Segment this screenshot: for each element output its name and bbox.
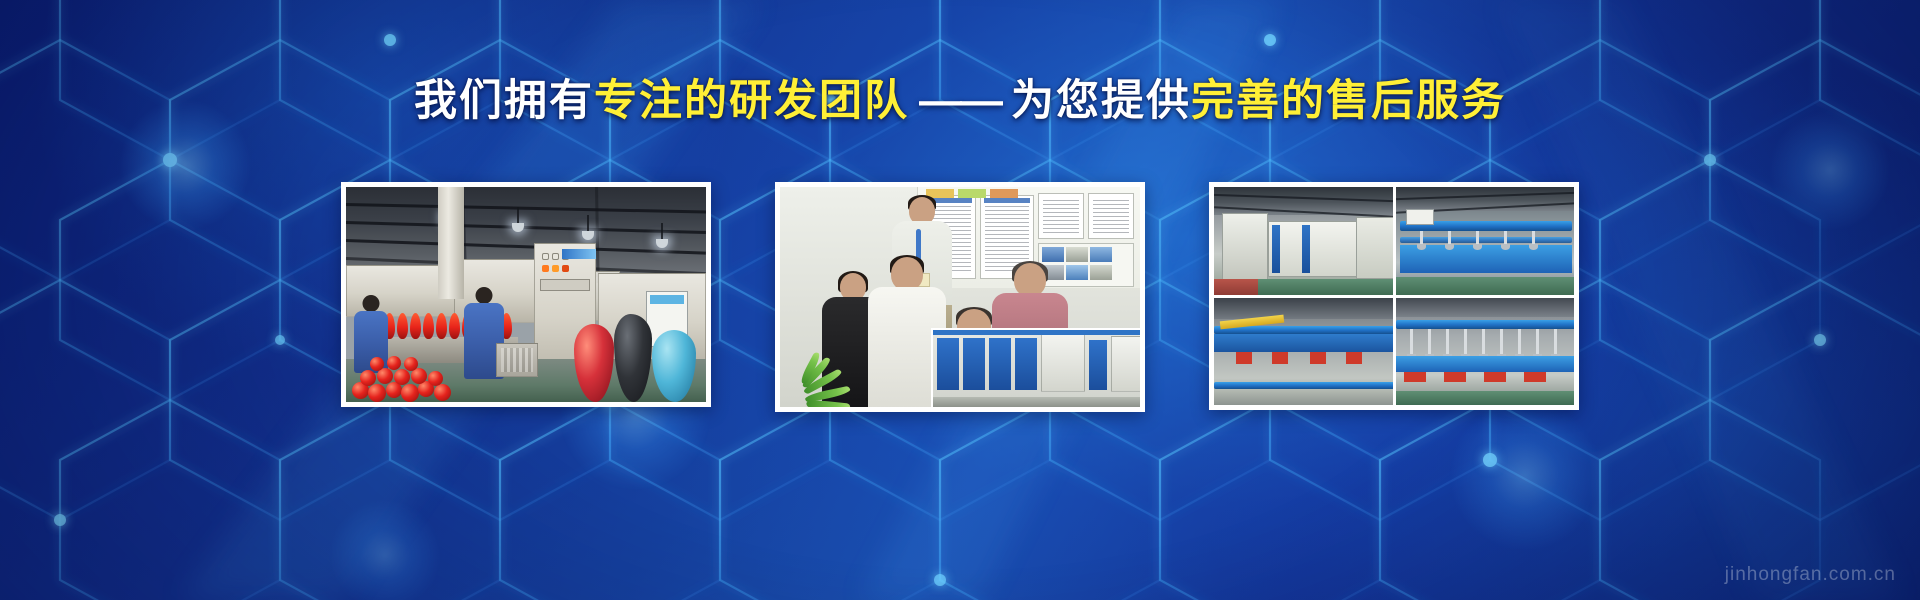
potted-plant [780,335,858,407]
collage-cell-spray-line [1396,187,1575,295]
photo-frame-equipment-collage[interactable] [1209,182,1579,410]
photo-team-meeting [780,187,1140,407]
collage-cell-conveyor [1214,298,1393,406]
headline-segment-2: 专注的研发团队 [594,77,909,125]
photo-equipment-collage [1214,187,1574,405]
photo-gallery [0,182,1920,412]
certificate-poster [1038,193,1084,239]
headline-dash: —— [909,77,1011,125]
red-spheres-pile [346,358,486,402]
collage-cell-hanging-line [1396,298,1575,406]
headline-container: 我们拥有专注的研发团队——为您提供完善的售后服务 [0,78,1920,125]
storage-crate [496,343,538,377]
headline-segment-4: 完善的售后服务 [1191,77,1506,125]
collage-cell-oven-line [1214,187,1393,295]
equipment-inset-photo [931,328,1140,407]
photo-frame-production-line[interactable] [341,182,711,407]
promo-banner: 我们拥有专注的研发团队——为您提供完善的售后服务 [0,0,1920,600]
glass-vase-red [574,324,614,402]
photo-frame-team-meeting[interactable] [775,182,1145,412]
headline-segment-3: 为您提供 [1011,77,1191,125]
page-title: 我们拥有专注的研发团队——为您提供完善的售后服务 [414,78,1506,125]
headline-segment-1: 我们拥有 [414,77,594,125]
photo-production-line [346,187,706,402]
glass-vase-dark [614,314,652,402]
site-watermark: jinhongfan.com.cn [1725,564,1896,586]
glass-vase-blue [652,330,696,402]
poster-thumbnails [1042,247,1112,262]
certificate-poster [1088,193,1134,239]
